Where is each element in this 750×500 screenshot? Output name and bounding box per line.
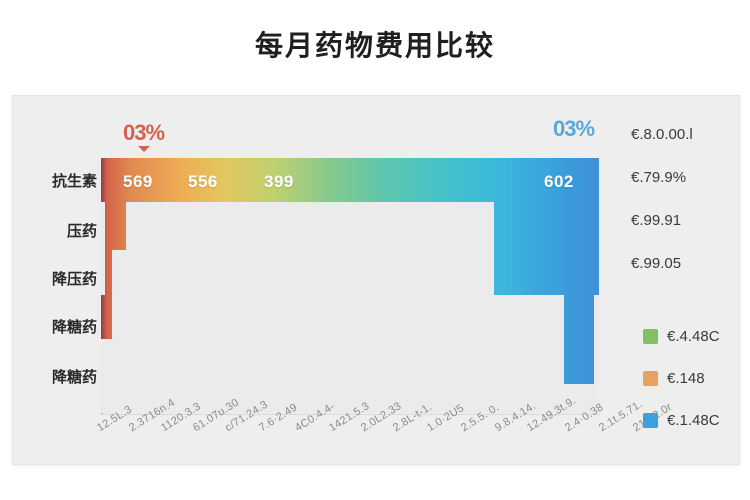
- callout-left-label: 03%: [123, 120, 164, 145]
- callout-right: 03%: [553, 116, 594, 142]
- chart-legend: €.4.48C €.148 €.1.48C: [643, 328, 743, 454]
- y-label-4: 降糖药: [15, 366, 97, 387]
- page-title: 每月药物费用比较: [0, 24, 750, 64]
- bar-band-row3-left[interactable]: [105, 250, 112, 295]
- bar-band-row5-right[interactable]: [564, 339, 594, 384]
- bar-band-row3-mid[interactable]: [494, 250, 564, 295]
- legend-item-1[interactable]: €.148: [643, 370, 743, 387]
- bar-band-antibiotics[interactable]: [101, 158, 599, 202]
- legend-label-2: €.1.48C: [667, 412, 720, 429]
- y-axis-labels: 抗生素 压药 降压药 降糖药 降糖药: [13, 158, 97, 414]
- value-list: €.8.0.00.l €.79.9% €.99.91 €.99.05: [631, 126, 741, 298]
- bar-value-0: 569: [123, 172, 153, 192]
- y-label-2: 降压药: [15, 268, 97, 289]
- value-row-2: €.99.91: [631, 212, 741, 229]
- bar-band-row2-right[interactable]: [494, 202, 599, 250]
- legend-label-0: €.4.48C: [667, 328, 720, 345]
- bar-band-row4-right[interactable]: [564, 295, 594, 339]
- callout-right-label: 03%: [553, 116, 594, 141]
- y-label-3: 降糖药: [15, 316, 97, 337]
- value-row-0: €.8.0.00.l: [631, 126, 741, 143]
- plot-area[interactable]: 569 556 399 602: [101, 158, 599, 413]
- callout-left: 03%: [123, 120, 164, 146]
- legend-swatch-green-icon: [643, 329, 658, 344]
- value-row-3: €.99.05: [631, 255, 741, 272]
- value-row-1: €.79.9%: [631, 169, 741, 186]
- bar-value-3: 602: [544, 172, 574, 192]
- legend-item-0[interactable]: €.4.48C: [643, 328, 743, 345]
- bar-band-row2-left[interactable]: [105, 202, 126, 250]
- y-label-0: 抗生素: [15, 170, 97, 191]
- bar-band-row4-left[interactable]: [101, 295, 112, 339]
- legend-swatch-orange-icon: [643, 371, 658, 386]
- screenshot-root: 每月药物费用比较 03% 03% 抗生素 压药 降压药 降糖药 降糖药: [0, 0, 750, 500]
- y-label-1: 压药: [15, 220, 97, 241]
- chart-card: 03% 03% 抗生素 压药 降压药 降糖药 降糖药: [12, 95, 740, 465]
- legend-item-2[interactable]: €.1.48C: [643, 412, 743, 429]
- legend-label-1: €.148: [667, 370, 705, 387]
- legend-swatch-blue-icon: [643, 413, 658, 428]
- bar-value-2: 399: [264, 172, 294, 192]
- callout-left-marker-icon: [138, 146, 150, 152]
- x-axis-tick-labels: 12.5L.3 2.3716n.4 1120.3.3 61.07u.30 c/7…: [101, 418, 661, 466]
- bar-value-1: 556: [188, 172, 218, 192]
- bar-band-row3-right[interactable]: [564, 250, 599, 295]
